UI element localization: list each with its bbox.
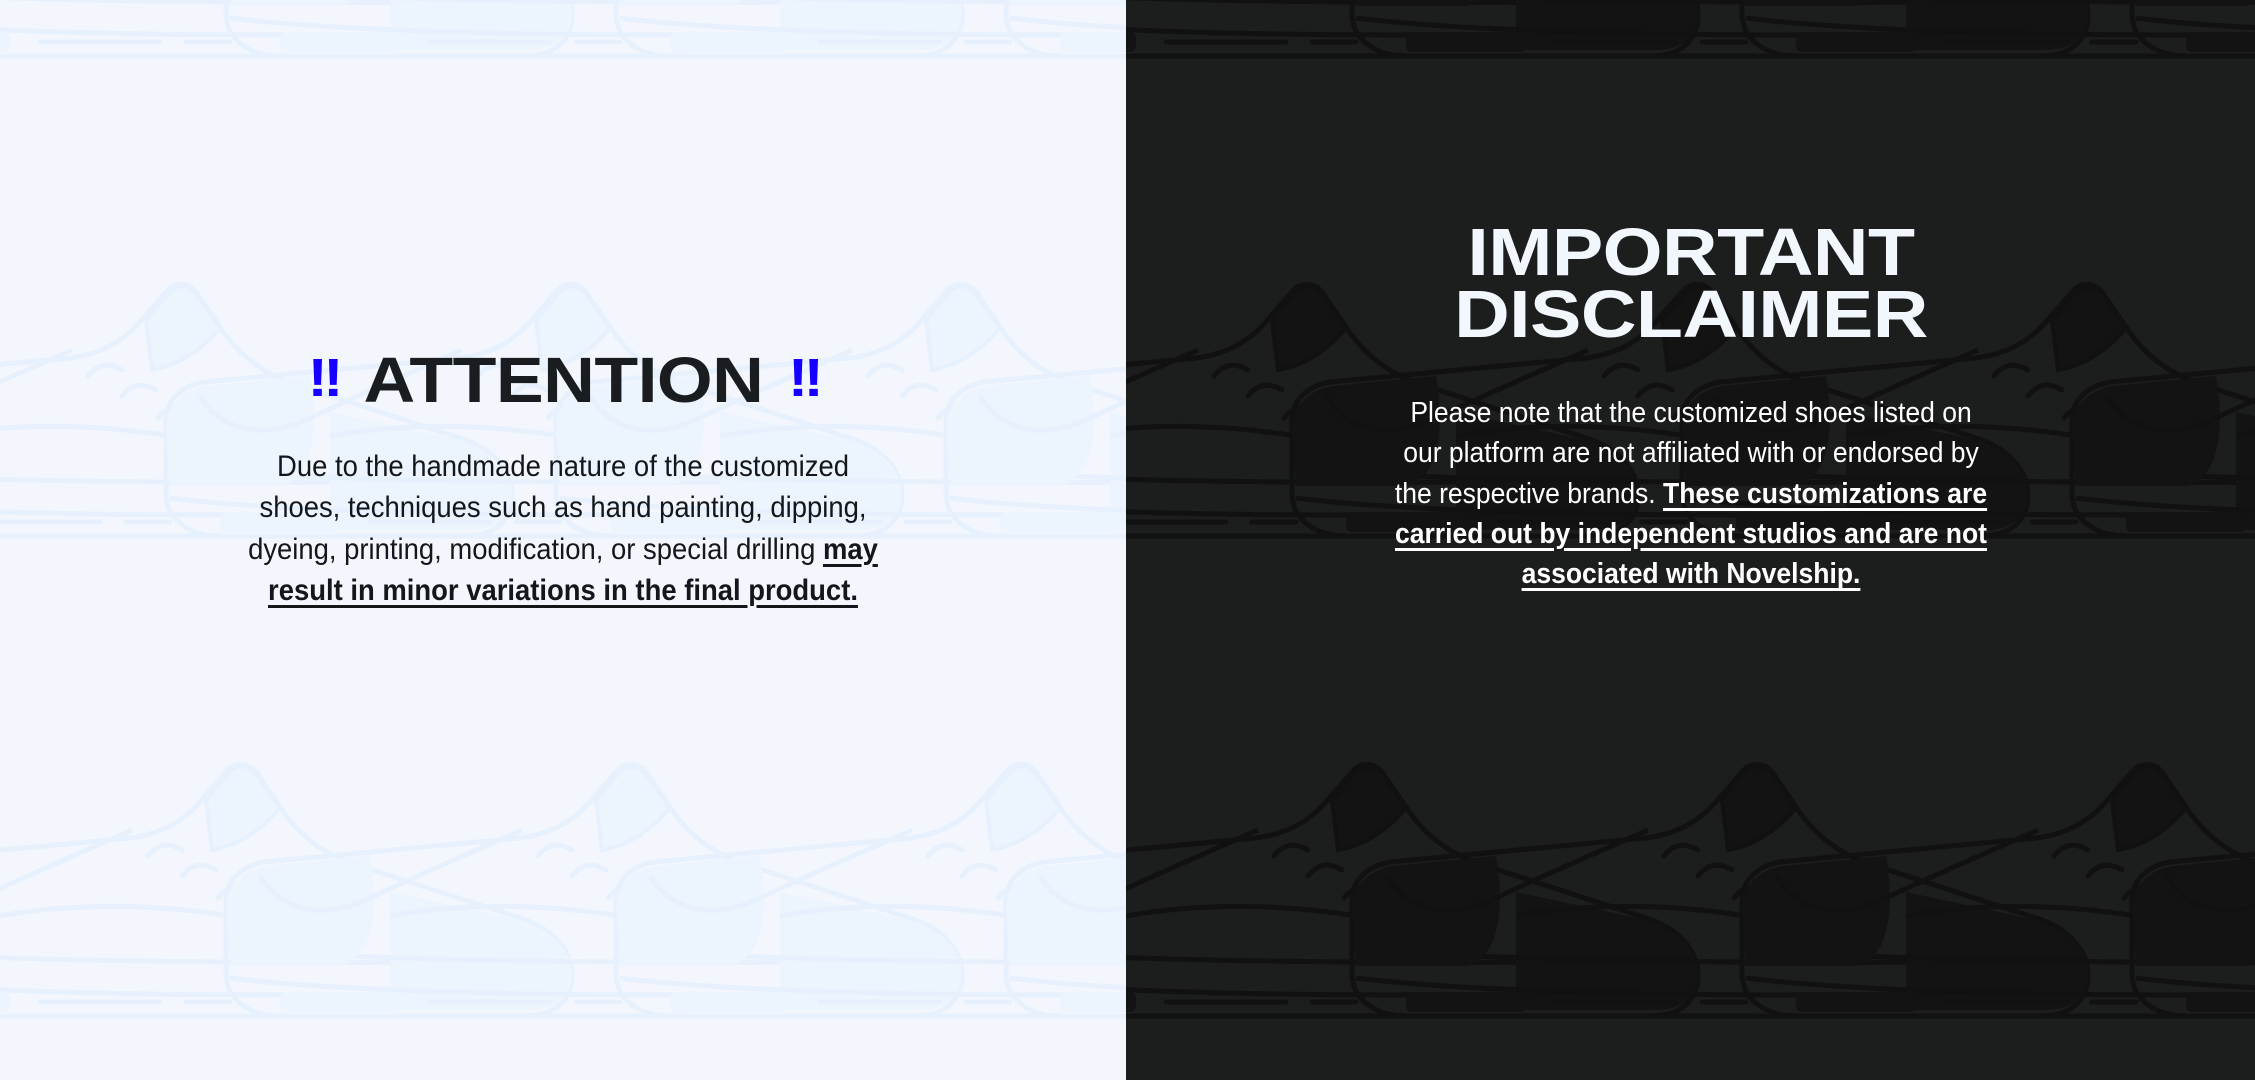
attention-panel: !! ATTENTION !! Due to the handmade natu… — [0, 0, 1126, 1080]
attention-body-plain: Due to the handmade nature of the custom… — [248, 450, 866, 566]
disclaimer-heading: IMPORTANT DISCLAIMER — [1454, 222, 1928, 347]
attention-content: !! ATTENTION !! Due to the handmade natu… — [0, 0, 1126, 1080]
disclaimer-body: Please note that the customized shoes li… — [1393, 393, 1988, 595]
double-exclamation-mark-icon-right: !! — [788, 351, 819, 405]
disclaimer-content: IMPORTANT DISCLAIMER Please note that th… — [1126, 0, 2255, 1080]
disclaimer-banner: !! ATTENTION !! Due to the handmade natu… — [0, 0, 2255, 1080]
attention-heading: !! ATTENTION !! — [307, 348, 819, 412]
double-exclamation-mark-icon-left: !! — [307, 351, 338, 405]
attention-heading-text: ATTENTION — [363, 348, 763, 412]
attention-body: Due to the handmade nature of the custom… — [238, 446, 889, 611]
disclaimer-heading-line2: DISCLAIMER — [1454, 277, 1928, 352]
disclaimer-panel: IMPORTANT DISCLAIMER Please note that th… — [1126, 0, 2255, 1080]
